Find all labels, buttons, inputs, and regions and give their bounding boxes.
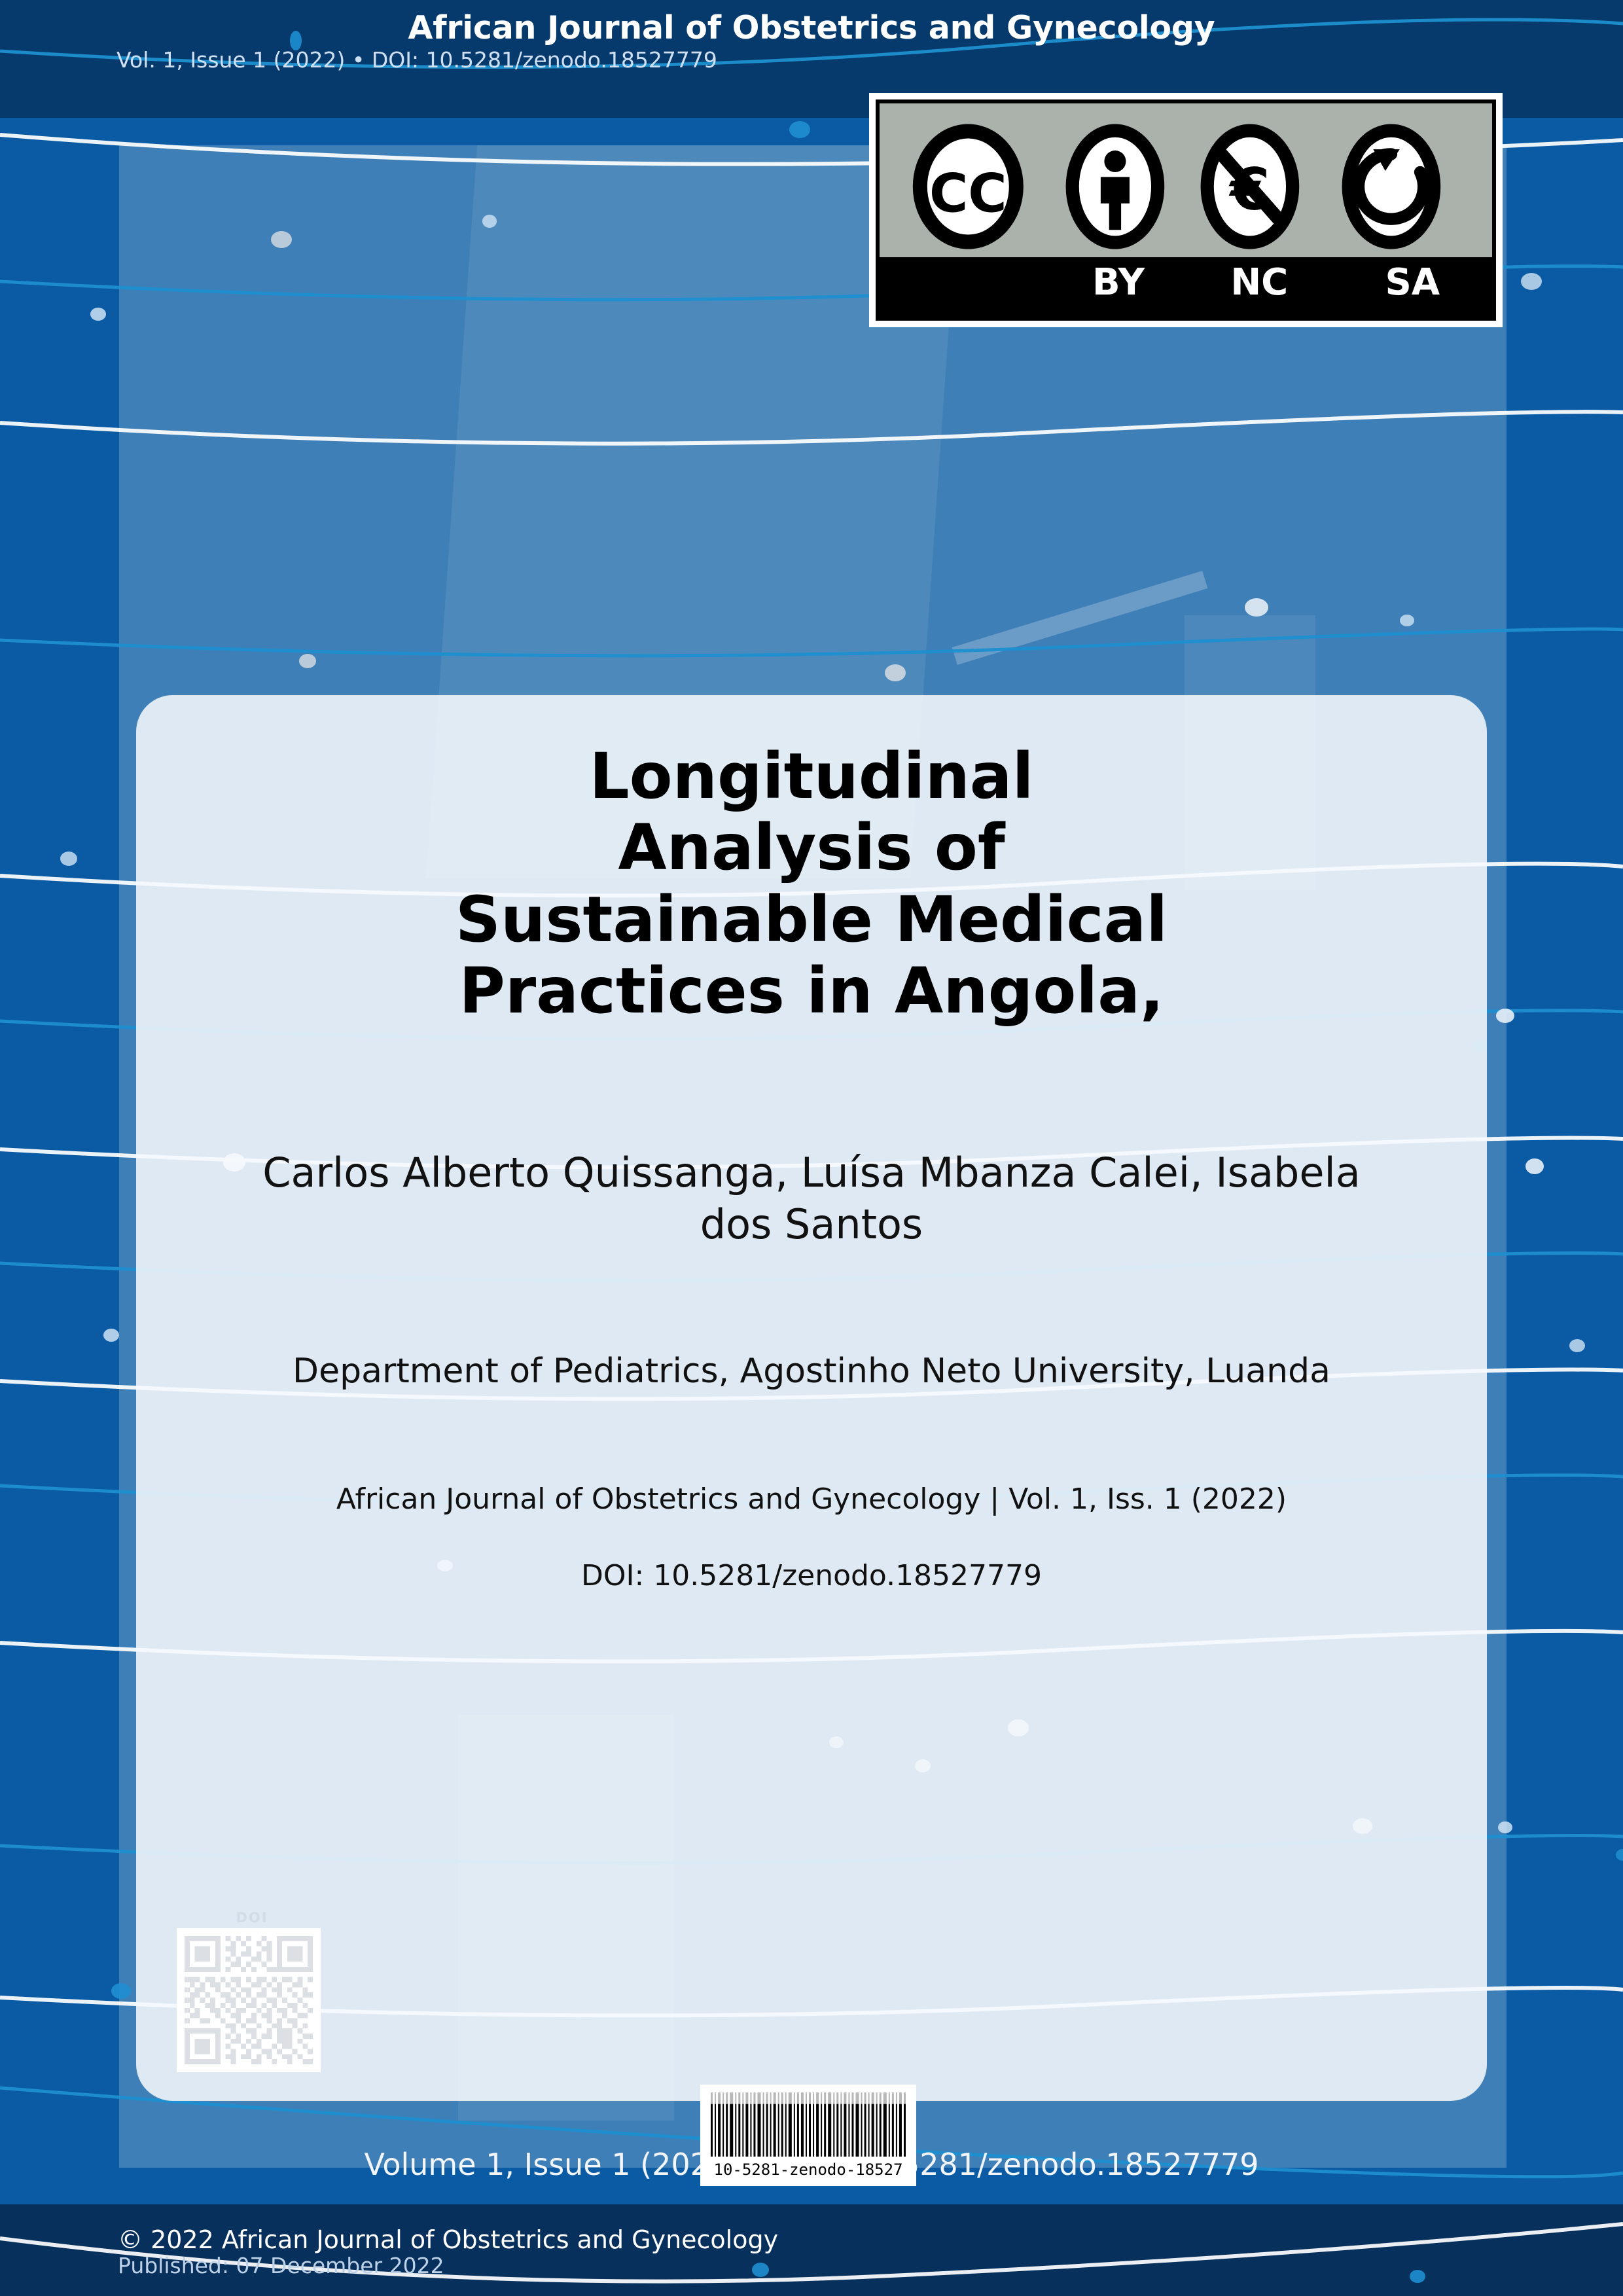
person-icon	[1057, 120, 1173, 253]
barcode-icon	[709, 2092, 907, 2157]
doi-qr-block[interactable]: DOI	[177, 1910, 327, 2072]
journal-cover-page: African Journal of Obstetrics and Gyneco…	[0, 0, 1623, 2296]
no-money-icon: €	[1192, 120, 1308, 253]
article-title-line-4: Practices in Angola,	[221, 956, 1402, 1027]
barcode-value-label: 10-5281-zenodo-18527	[709, 2161, 907, 2179]
share-alike-icon	[1333, 120, 1450, 253]
article-title-line-1: Longitudinal	[221, 741, 1402, 812]
doi-barcode-block: 10-5281-zenodo-18527	[700, 2085, 916, 2186]
issue-doi-meta: Vol. 1, Issue 1 (2022) • DOI: 10.5281/ze…	[116, 47, 717, 73]
svg-text:CC: CC	[929, 164, 1007, 225]
article-citation: African Journal of Obstetrics and Gyneco…	[247, 1480, 1376, 1518]
qr-code-icon[interactable]	[177, 1928, 321, 2072]
cc-badge-label-row: BY NC SA	[880, 253, 1492, 312]
qr-label: DOI	[177, 1910, 327, 1926]
cc-badge-frame: CC €	[876, 99, 1496, 321]
cc-icon: CC	[895, 120, 1042, 253]
footer-copyright: © 2022 African Journal of Obstetrics and…	[118, 2225, 778, 2254]
article-info-card: Longitudinal Analysis of Sustainable Med…	[136, 695, 1487, 2101]
article-title-line-3: Sustainable Medical	[221, 884, 1402, 956]
article-authors: Carlos Alberto Quissanga, Luísa Mbanza C…	[221, 1147, 1402, 1251]
footer-published-date: Published: 07 December 2022	[118, 2253, 444, 2278]
cc-label-sa: SA	[1333, 261, 1492, 304]
cc-label-nc: NC	[1186, 261, 1333, 304]
article-doi: DOI: 10.5281/zenodo.18527779	[247, 1559, 1376, 1592]
cc-license-badge[interactable]: CC €	[869, 93, 1503, 327]
cc-label-by: BY	[1051, 261, 1186, 304]
article-affiliation: Department of Pediatrics, Agostinho Neto…	[247, 1350, 1376, 1393]
article-title-line-2: Analysis of	[221, 812, 1402, 884]
article-title: Longitudinal Analysis of Sustainable Med…	[221, 741, 1402, 1028]
journal-title-header: African Journal of Obstetrics and Gyneco…	[0, 9, 1623, 46]
